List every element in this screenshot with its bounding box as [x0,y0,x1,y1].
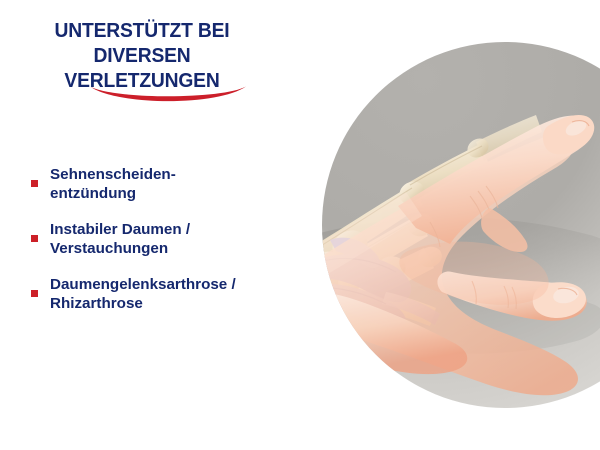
hand-image-panel [290,0,600,450]
list-item-text: Instabiler Daumen / Verstauchungen [50,220,300,258]
slide-root: UNTERSTÜTZT BEI DIVERSEN VERLETZUNGEN Se… [0,0,600,450]
list-item: Instabiler Daumen / Verstauchungen [26,220,300,258]
bullet-square-icon [31,235,38,242]
list-item-line: Daumengelenksarthrose / [50,275,300,294]
list-item-line: Verstauchungen [50,239,300,258]
bullet-square-icon [31,180,38,187]
anatomical-hand-illustration [290,0,600,450]
list-item: Daumengelenksarthrose / Rhizarthrose [26,275,300,313]
bullet-square-icon [31,290,38,297]
list-item-line: Rhizarthrose [50,294,300,313]
list-item: Sehnenscheiden- entzündung [26,165,300,203]
page-title-line-2: DIVERSEN [16,43,268,68]
red-swoosh-underline-icon [88,84,248,108]
left-content-panel: UNTERSTÜTZT BEI DIVERSEN VERLETZUNGEN Se… [0,0,300,450]
list-item-line: entzündung [50,184,300,203]
list-item-text: Daumengelenksarthrose / Rhizarthrose [50,275,300,313]
page-title-line-1: UNTERSTÜTZT BEI [16,18,268,43]
list-item-line: Instabiler Daumen / [50,220,300,239]
list-item-line: Sehnenscheiden- [50,165,300,184]
list-item-text: Sehnenscheiden- entzündung [50,165,300,203]
injury-list: Sehnenscheiden- entzündung Instabiler Da… [26,165,300,313]
page-title: UNTERSTÜTZT BEI DIVERSEN VERLETZUNGEN [8,18,276,93]
